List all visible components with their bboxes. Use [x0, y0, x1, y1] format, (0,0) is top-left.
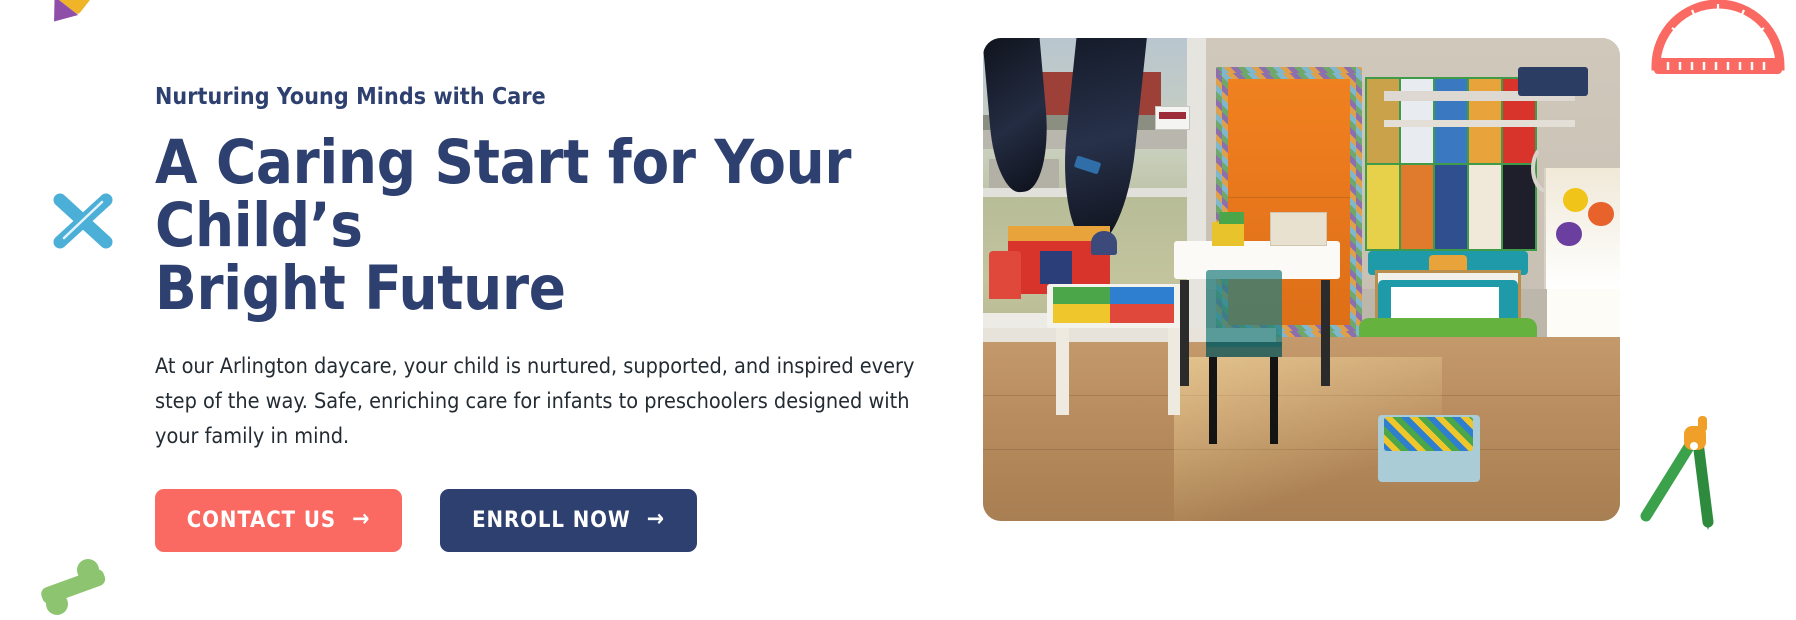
enroll-now-label: ENROLL NOW: [472, 508, 631, 533]
headline-line-1: A Caring Start for Your Child’s: [155, 127, 851, 261]
contact-us-label: CONTACT US: [187, 508, 336, 533]
hero-image: [983, 38, 1620, 521]
percent-sign-doodle-icon: [30, 552, 116, 620]
photo-character-posters: [1365, 77, 1537, 251]
hero-content: Nurturing Young Minds with Care A Caring…: [155, 84, 955, 552]
arrow-right-icon: →: [352, 508, 370, 531]
protractor-doodle-icon: [1648, 0, 1788, 78]
hero-button-row: CONTACT US → ENROLL NOW →: [155, 489, 955, 552]
contact-us-button[interactable]: CONTACT US →: [155, 489, 402, 552]
enroll-now-button[interactable]: ENROLL NOW →: [440, 489, 697, 552]
arrow-right-icon: →: [647, 508, 665, 531]
compass-doodle-icon: [1630, 412, 1750, 530]
hero-section: Nurturing Young Minds with Care A Caring…: [0, 0, 1796, 620]
photo-alphabet-poster: [1544, 168, 1620, 289]
photo-chair: [1206, 270, 1282, 347]
pencil-doodle-icon: [22, 0, 112, 50]
page-title: A Caring Start for Your Child’s Bright F…: [155, 132, 955, 320]
headline-line-2: Bright Future: [155, 258, 955, 321]
hero-paragraph: At our Arlington daycare, your child is …: [155, 350, 955, 454]
hero-eyebrow: Nurturing Young Minds with Care: [155, 84, 955, 110]
daycare-classroom-photo: [983, 38, 1620, 521]
x-mark-doodle-icon: [44, 182, 122, 260]
